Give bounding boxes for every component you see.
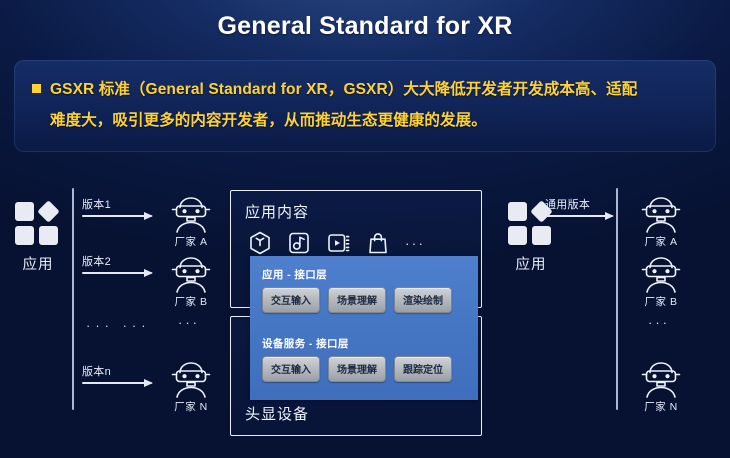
slide-root: General Standard for XR GSXR 标准（General …: [0, 0, 730, 458]
center-stack: 应用内容: [230, 190, 482, 438]
title-bar: General Standard for XR: [0, 0, 730, 52]
arrow-shaft-n: [82, 382, 152, 384]
vr-user-icon: [638, 358, 684, 398]
arrow-shaft-universal: [545, 215, 613, 217]
chip-device-interaction-input[interactable]: 交互输入: [262, 356, 320, 382]
apps-grid-square-4: [532, 226, 551, 245]
vendor-right-ellipsis: ···: [648, 315, 670, 330]
arrow-shaft-1: [82, 215, 152, 217]
callout-text-1: GSXR 标准（General Standard for XR，GSXR）大大降…: [50, 81, 637, 98]
bullet-marker: [32, 84, 41, 93]
apps-grid-square-1: [508, 202, 527, 221]
arrow-label-version-2: 版本2: [82, 253, 152, 269]
arrow-label-version-n: 版本n: [82, 363, 152, 379]
music-note-icon: [288, 231, 310, 255]
device-service-layer-chips: 交互输入 场景理解 跟踪定位: [262, 356, 478, 382]
app-interface-layer-chips: 交互输入 场景理解 渲染绘制: [262, 287, 478, 313]
arrow-version-2: 版本2: [82, 253, 152, 274]
shopping-bag-icon: [368, 231, 388, 255]
left-application-label: 应用: [5, 253, 71, 274]
vr-user-icon: [168, 253, 214, 293]
device-service-layer-title: 设备服务 - 接口层: [262, 336, 478, 351]
chip-device-scene-understanding[interactable]: 场景理解: [328, 356, 386, 382]
apps-grid-icon: [15, 202, 61, 248]
arrow-version-n: 版本n: [82, 363, 152, 384]
app-content-title: 应用内容: [245, 201, 309, 222]
chip-app-interaction-input[interactable]: 交互输入: [262, 287, 320, 313]
arrow-version-1: 版本1: [82, 196, 152, 217]
vendor-right-b: 厂家 B: [630, 253, 692, 309]
vr-user-icon: [168, 193, 214, 233]
vendor-right-a: 厂家 A: [630, 193, 692, 249]
arrow-ellipsis: ··· ···: [86, 318, 151, 333]
app-content-more: ···: [405, 235, 425, 251]
apps-grid-square-3: [15, 226, 34, 245]
apps-grid-diamond: [37, 200, 60, 223]
page-title: General Standard for XR: [218, 12, 513, 41]
callout-line-1: GSXR 标准（General Standard for XR，GSXR）大大降…: [32, 74, 698, 105]
apps-grid-square-1: [15, 202, 34, 221]
apps-grid-square-4: [39, 226, 58, 245]
divider-left: [72, 188, 74, 410]
video-play-icon: [327, 231, 351, 255]
device-service-interface-layer: 设备服务 - 接口层 交互输入 场景理解 跟踪定位: [250, 336, 478, 382]
architecture-diagram: 应用 版本1 版本2 ··· ··· 版本n: [0, 160, 730, 458]
arrow-universal-version: 通用版本: [545, 196, 613, 217]
divider-right: [616, 188, 618, 410]
arrow-label-universal-version: 通用版本: [545, 196, 613, 212]
cube-icon: [249, 231, 271, 255]
vendor-left-b-label: 厂家 B: [160, 294, 222, 309]
interface-layer-panel: 应用 - 接口层 交互输入 场景理解 渲染绘制 设备服务 - 接口层 交互输入 …: [250, 256, 478, 400]
right-application-label: 应用: [498, 253, 564, 274]
vendor-left-n-label: 厂家 N: [160, 399, 222, 414]
vendor-right-n-label: 厂家 N: [630, 399, 692, 414]
chip-device-tracking-positioning[interactable]: 跟踪定位: [394, 356, 452, 382]
arrow-label-version-1: 版本1: [82, 196, 152, 212]
app-interface-layer: 应用 - 接口层 交互输入 场景理解 渲染绘制: [250, 267, 478, 313]
left-application: 应用: [5, 202, 71, 274]
app-interface-layer-title: 应用 - 接口层: [262, 267, 478, 282]
callout-line-2: 难度大，吸引更多的内容开发者，从而推动生态更健康的发展。: [32, 105, 698, 136]
vendor-left-a-label: 厂家 A: [160, 234, 222, 249]
vr-user-icon: [638, 193, 684, 233]
apps-grid-square-3: [508, 226, 527, 245]
callout-box: GSXR 标准（General Standard for XR，GSXR）大大降…: [14, 60, 716, 152]
vr-user-icon: [168, 358, 214, 398]
vendor-left-a: 厂家 A: [160, 193, 222, 249]
app-content-icons: ···: [249, 231, 425, 255]
vendor-left-ellipsis: ···: [178, 315, 200, 330]
vendor-right-a-label: 厂家 A: [630, 234, 692, 249]
chip-app-render-draw[interactable]: 渲染绘制: [394, 287, 452, 313]
vr-user-icon: [638, 253, 684, 293]
arrow-shaft-2: [82, 272, 152, 274]
hmd-title: 头显设备: [245, 403, 309, 424]
vendor-left-n: 厂家 N: [160, 358, 222, 414]
vendor-right-n: 厂家 N: [630, 358, 692, 414]
vendor-right-b-label: 厂家 B: [630, 294, 692, 309]
vendor-left-b: 厂家 B: [160, 253, 222, 309]
chip-app-scene-understanding[interactable]: 场景理解: [328, 287, 386, 313]
